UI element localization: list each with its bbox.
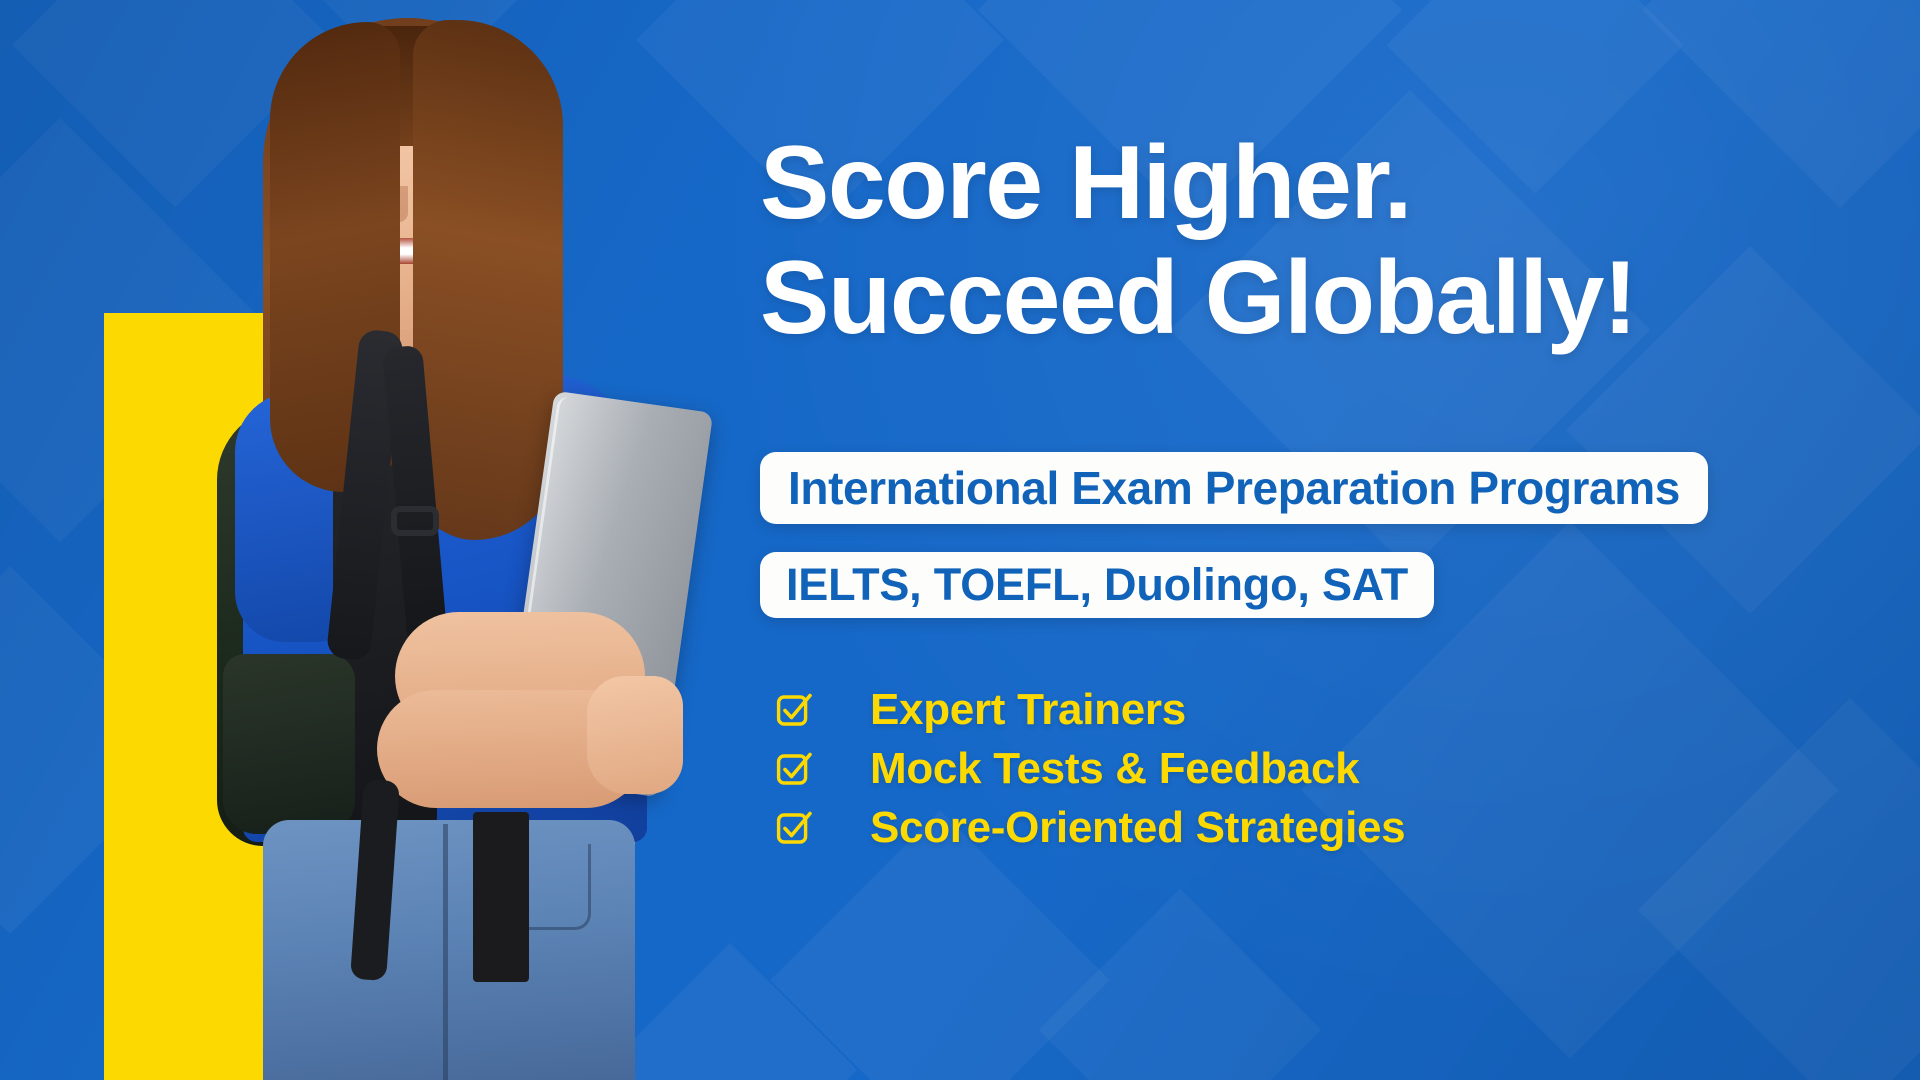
feature-label: Mock Tests & Feedback [870, 744, 1359, 794]
list-item: Score-Oriented Strategies [760, 798, 1760, 857]
feature-list: Expert Trainers Mock Tests & Feedback [760, 680, 1760, 857]
model-hair-right [413, 20, 563, 540]
feature-label: Score-Oriented Strategies [870, 803, 1405, 853]
list-item: Mock Tests & Feedback [760, 739, 1760, 798]
jeans-seam [443, 824, 448, 1080]
checkbox-checked-icon [776, 810, 812, 846]
backpack-strap-buckle [391, 506, 439, 536]
programs-pill: International Exam Preparation Programs [760, 452, 1708, 524]
headline-line-1: Score Higher. [760, 125, 1411, 241]
banner-content: Score Higher. Succeed Globally! Internat… [760, 0, 1920, 1080]
headline-line-2: Succeed Globally! [760, 241, 1910, 356]
exams-pill: IELTS, TOEFL, Duolingo, SAT [760, 552, 1434, 618]
student-photo [95, 0, 695, 1080]
backpack-pocket [223, 654, 355, 834]
feature-label: Expert Trainers [870, 685, 1186, 735]
checkbox-checked-icon [776, 692, 812, 728]
promotional-banner: Score Higher. Succeed Globally! Internat… [0, 0, 1920, 1080]
list-item: Expert Trainers [760, 680, 1760, 739]
model-hand [587, 676, 683, 794]
checkbox-checked-icon [776, 751, 812, 787]
page-title: Score Higher. Succeed Globally! [760, 126, 1910, 357]
backpack-strap-hanging [473, 812, 529, 982]
